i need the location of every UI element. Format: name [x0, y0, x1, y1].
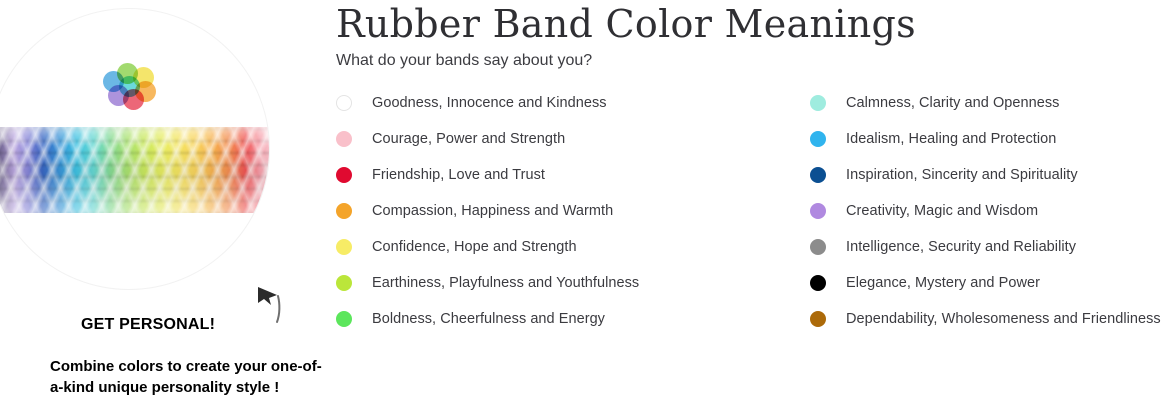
- meanings-left-column: Goodness, Innocence and KindnessCourage,…: [336, 85, 776, 337]
- meaning-label: Courage, Power and Strength: [372, 131, 565, 147]
- meaning-label: Dependability, Wholesomeness and Friendl…: [846, 311, 1161, 327]
- color-swatch-icon: [810, 203, 826, 219]
- color-swatch-icon: [810, 311, 826, 327]
- meaning-item: Compassion, Happiness and Warmth: [336, 193, 776, 229]
- color-swatch-icon: [810, 239, 826, 255]
- page-subtitle: What do your bands say about you?: [336, 46, 916, 70]
- meaning-item: Idealism, Healing and Protection: [810, 121, 1170, 157]
- meaning-item: Goodness, Innocence and Kindness: [336, 85, 776, 121]
- color-swatch-icon: [810, 275, 826, 291]
- meaning-item: Boldness, Cheerfulness and Energy: [336, 301, 776, 337]
- meaning-label: Compassion, Happiness and Warmth: [372, 203, 613, 219]
- meaning-label: Inspiration, Sincerity and Spirituality: [846, 167, 1078, 183]
- meaning-item: Intelligence, Security and Reliability: [810, 229, 1170, 265]
- color-swatch-icon: [336, 275, 352, 291]
- color-swatch-icon: [810, 95, 826, 111]
- color-swatch-icon: [336, 239, 352, 255]
- meaning-label: Boldness, Cheerfulness and Energy: [372, 311, 605, 327]
- color-cluster-icon: [103, 63, 155, 111]
- color-swatch-icon: [810, 167, 826, 183]
- color-swatch-icon: [336, 95, 352, 111]
- color-swatch-icon: [336, 167, 352, 183]
- meaning-label: Friendship, Love and Trust: [372, 167, 545, 183]
- meaning-item: Creativity, Magic and Wisdom: [810, 193, 1170, 229]
- get-personal-heading: GET PERSONAL!: [81, 316, 215, 334]
- meaning-label: Elegance, Mystery and Power: [846, 275, 1040, 291]
- cluster-dot: [119, 76, 140, 97]
- meanings-right-column: Calmness, Clarity and OpennessIdealism, …: [810, 85, 1170, 337]
- meaning-label: Creativity, Magic and Wisdom: [846, 203, 1038, 219]
- product-circle-image: [0, 8, 270, 290]
- color-swatch-icon: [336, 131, 352, 147]
- page-title: Rubber Band Color Meanings: [336, 0, 916, 46]
- meaning-label: Goodness, Innocence and Kindness: [372, 95, 607, 111]
- meaning-item: Inspiration, Sincerity and Spirituality: [810, 157, 1170, 193]
- rainbow-braid-bracelet: [0, 127, 270, 213]
- tagline-text: Combine colors to create your one-of-a-k…: [50, 356, 335, 398]
- meaning-label: Earthiness, Playfulness and Youthfulness: [372, 275, 639, 291]
- meaning-item: Earthiness, Playfulness and Youthfulness: [336, 265, 776, 301]
- header: Rubber Band Color Meanings What do your …: [336, 0, 916, 70]
- meaning-item: Elegance, Mystery and Power: [810, 265, 1170, 301]
- meaning-item: Calmness, Clarity and Openness: [810, 85, 1170, 121]
- color-swatch-icon: [336, 203, 352, 219]
- meaning-item: Dependability, Wholesomeness and Friendl…: [810, 301, 1170, 337]
- product-image-panel: GET PERSONAL! Combine colors to create y…: [0, 0, 330, 407]
- meaning-item: Courage, Power and Strength: [336, 121, 776, 157]
- color-swatch-icon: [810, 131, 826, 147]
- color-swatch-icon: [336, 311, 352, 327]
- meaning-label: Calmness, Clarity and Openness: [846, 95, 1059, 111]
- meaning-label: Intelligence, Security and Reliability: [846, 239, 1076, 255]
- meaning-item: Friendship, Love and Trust: [336, 157, 776, 193]
- braid-shading-overlay: [0, 127, 270, 213]
- meaning-label: Confidence, Hope and Strength: [372, 239, 577, 255]
- meaning-label: Idealism, Healing and Protection: [846, 131, 1056, 147]
- meaning-item: Confidence, Hope and Strength: [336, 229, 776, 265]
- arrow-cursor-icon: [252, 284, 290, 324]
